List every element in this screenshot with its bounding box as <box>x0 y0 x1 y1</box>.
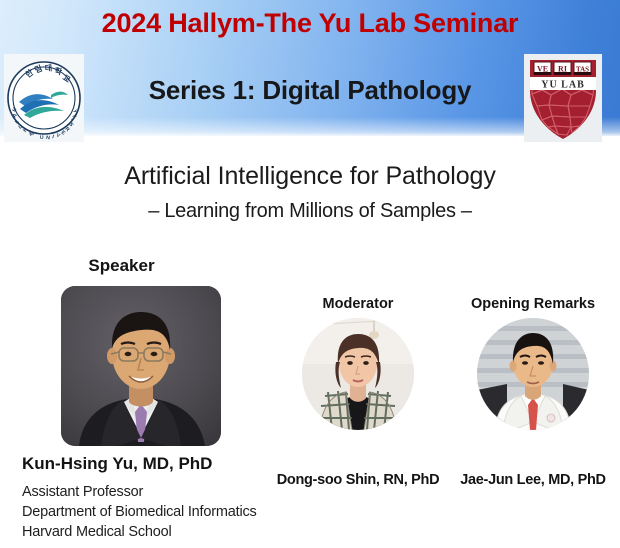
moderator-name: Dong-soo Shin, RN, PhD <box>273 472 443 488</box>
moderator-photo <box>302 318 414 430</box>
speaker-name: Kun-Hsing Yu, MD, PhD <box>22 454 212 474</box>
seminar-series-title: 2024 Hallym-The Yu Lab Seminar <box>0 8 620 39</box>
svg-text:U: U <box>40 135 44 141</box>
speaker-affiliation-line-3: Harvard Medical School <box>22 522 257 542</box>
yu-lab-shield-icon: VE RI TAS YU LAB <box>524 54 602 142</box>
svg-text:대: 대 <box>44 63 52 73</box>
opening-remarks-photo <box>477 318 589 430</box>
talk-title: Artificial Intelligence for Pathology <box>0 162 620 191</box>
talk-subtitle: – Learning from Millions of Samples – <box>0 200 620 223</box>
speaker-role-label: Speaker <box>14 256 229 276</box>
opening-remarks-role-label: Opening Remarks <box>448 296 618 312</box>
speaker-affiliation-line-2: Department of Biomedical Informatics <box>22 502 257 522</box>
svg-text:VE: VE <box>537 65 548 74</box>
yu-lab-logo: VE RI TAS YU LAB <box>524 54 602 142</box>
svg-text:RI: RI <box>558 65 567 74</box>
hallym-university-logo: 한 림 대 학 교 H A L L Y M U N I V E R S I T <box>4 54 84 142</box>
opening-remarks-block: Opening Remarks <box>448 296 618 430</box>
opening-remarks-headshot-icon <box>477 318 589 430</box>
opening-remarks-name: Jae-Jun Lee, MD, PhD <box>448 472 618 488</box>
svg-text:YU LAB: YU LAB <box>541 80 585 91</box>
speaker-affiliation-line-1: Assistant Professor <box>22 482 257 502</box>
speaker-headshot-icon <box>61 286 221 446</box>
speaker-affiliation: Assistant Professor Department of Biomed… <box>22 482 257 542</box>
moderator-headshot-icon <box>302 318 414 430</box>
moderator-block: Moderator <box>273 296 443 430</box>
speaker-photo <box>61 286 221 446</box>
moderator-role-label: Moderator <box>273 296 443 312</box>
hallym-university-emblem-icon: 한 림 대 학 교 H A L L Y M U N I V E R S I T <box>4 54 84 142</box>
svg-text:N: N <box>46 135 51 141</box>
svg-text:TAS: TAS <box>576 66 589 74</box>
